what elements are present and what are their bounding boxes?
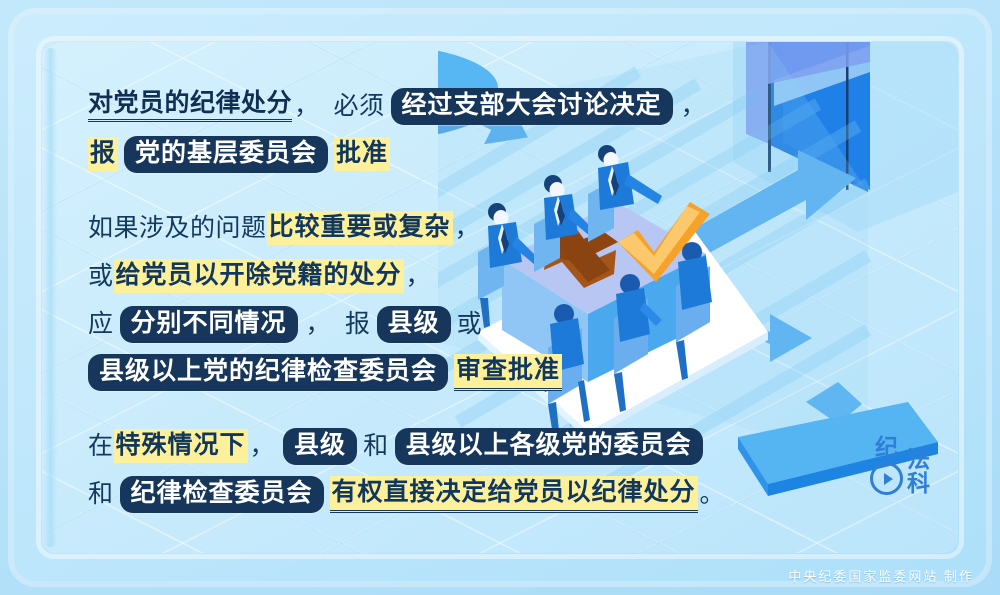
text-line: 应 分别不同情况 ， 报 县级 或: [88, 300, 748, 348]
play-circle-icon: [870, 462, 903, 495]
play-triangle-icon: [884, 473, 893, 485]
punctuation: ，: [679, 94, 709, 119]
highlight-text: 比较重要或复杂: [267, 211, 453, 245]
plain-text: 如果涉及的问题: [88, 216, 267, 241]
logo-mark: 纪: [870, 436, 903, 495]
logo-wordmark: 法 科: [907, 448, 930, 495]
brand-logo: 纪 法 科: [870, 436, 930, 495]
keyword-pill: 纪律检查委员会: [120, 476, 324, 513]
plain-text: 必须: [334, 94, 385, 119]
plain-text: 应: [88, 312, 114, 337]
punctuation: ，: [404, 264, 434, 289]
highlight-underlined: 审查批准: [454, 354, 562, 391]
keyword-pill: 县级: [377, 306, 451, 343]
text-line: 报 党的基层委员会 批准: [88, 130, 748, 178]
keyword-pill: 县级以上各级党的委员会: [395, 428, 703, 465]
text-line: 县级以上党的纪律检查委员会 审查批准: [88, 348, 748, 396]
paragraph-2: 如果涉及的问题 比较重要或复杂 ， 或 给党员以开除党籍的处分 ， 应 分别不同…: [88, 204, 748, 396]
logo-char-fa: 法: [907, 448, 930, 471]
logo-char-ji: 纪: [875, 436, 898, 459]
punctuation: ，: [453, 216, 483, 241]
highlight-text: 给党员以开除党籍的处分: [114, 259, 404, 293]
outer-frame: 对党员的纪律处分 ， 必须 经过支部大会讨论决定 ， 报 党的基层委员会: [14, 14, 986, 581]
text-line: 如果涉及的问题 比较重要或复杂 ，: [88, 204, 748, 252]
punctuation: 。: [698, 482, 728, 507]
keyword-pill: 党的基层委员会: [124, 136, 328, 173]
plain-text: 和: [363, 434, 389, 459]
plain-text: 和: [88, 482, 114, 507]
credit-line: 中央纪委国家监委网站 制作: [788, 566, 974, 585]
keyword-pill: 经过支部大会讨论决定: [391, 88, 673, 125]
punctuation: ，: [248, 434, 278, 459]
text-line: 在 特殊情况下 ， 县级 和 县级以上各级党的委员会: [88, 422, 748, 470]
highlight-text: 特殊情况下: [114, 429, 248, 463]
logo-char-ke: 科: [907, 472, 930, 495]
plain-text: 或: [88, 264, 114, 289]
plain-text: 或: [457, 312, 483, 337]
text-line: 和 纪律检查委员会 有权直接决定给党员以纪律处分 。: [88, 470, 748, 518]
keyword-pill: 县级: [283, 428, 357, 465]
inner-frame: 对党员的纪律处分 ， 必须 经过支部大会讨论决定 ， 报 党的基层委员会: [42, 42, 958, 553]
paragraph-1: 对党员的纪律处分 ， 必须 经过支部大会讨论决定 ， 报 党的基层委员会: [88, 82, 748, 178]
plain-text: 在: [88, 434, 114, 459]
keyword-pill: 县级以上党的纪律检查委员会: [88, 354, 448, 391]
plain-text: 报: [345, 312, 371, 337]
punctuation: ，: [304, 312, 334, 337]
keyword-pill: 分别不同情况: [120, 306, 298, 343]
highlight-text: 报: [88, 137, 118, 171]
body-copy: 对党员的纪律处分 ， 必须 经过支部大会讨论决定 ， 报 党的基层委员会: [88, 82, 748, 526]
punctuation: ，: [292, 94, 322, 119]
poster-canvas: 对党员的纪律处分 ， 必须 经过支部大会讨论决定 ， 报 党的基层委员会: [0, 0, 1000, 595]
text-line: 对党员的纪律处分 ， 必须 经过支部大会讨论决定 ，: [88, 82, 748, 130]
text-line: 或 给党员以开除党籍的处分 ，: [88, 252, 748, 300]
emphasis-underlined: 对党员的纪律处分: [88, 91, 292, 122]
highlight-text: 批准: [334, 137, 390, 171]
left-accent-bar: [44, 48, 57, 547]
paragraph-3: 在 特殊情况下 ， 县级 和 县级以上各级党的委员会 和 纪律检查委员会: [88, 422, 748, 518]
highlight-underlined: 有权直接决定给党员以纪律处分: [330, 476, 698, 513]
